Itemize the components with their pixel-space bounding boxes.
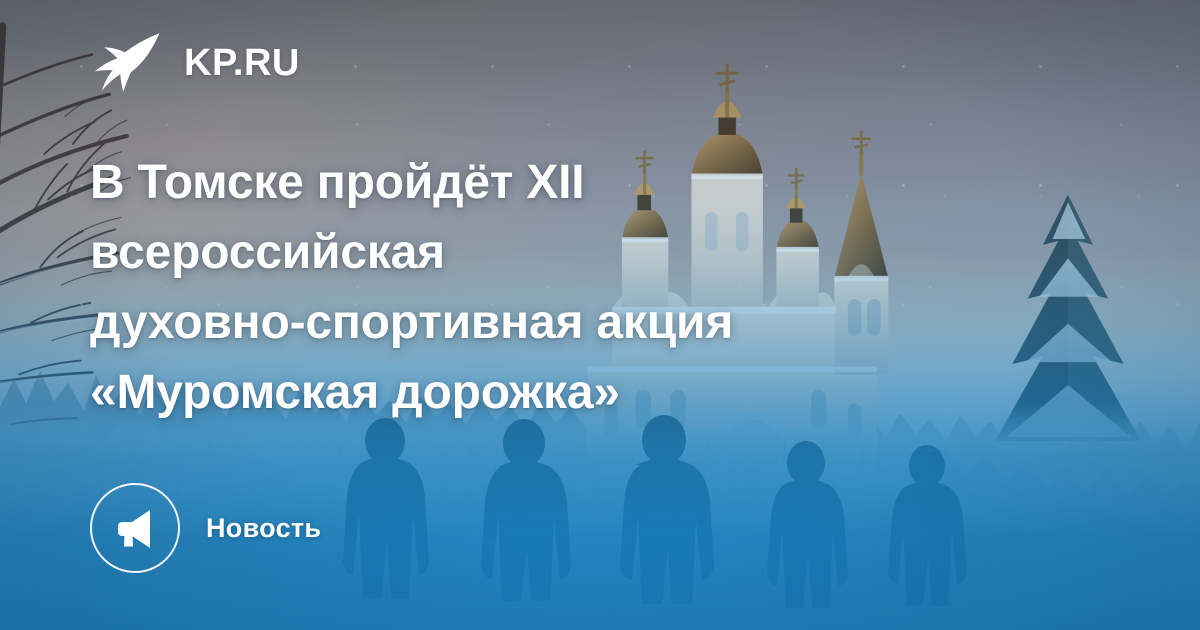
swallow-bird-icon <box>90 32 162 94</box>
megaphone-icon <box>112 505 158 551</box>
badge-label: Новость <box>206 515 321 542</box>
news-share-card: KP.RU В Томске пройдёт XII всероссийская… <box>0 0 1200 630</box>
headline-line-2: всероссийская <box>90 218 930 288</box>
badge-icon-circle <box>90 483 180 573</box>
headline-line-1: В Томске пройдёт XII <box>90 148 930 218</box>
category-badge[interactable]: Новость <box>90 483 321 573</box>
card-content: KP.RU В Томске пройдёт XII всероссийская… <box>0 0 1200 630</box>
brand-lockup[interactable]: KP.RU <box>90 32 300 94</box>
headline-line-3: духовно-спортивная акция <box>90 288 930 358</box>
brand-wordmark: KP.RU <box>184 44 300 82</box>
headline-line-4: «Муромская дорожка» <box>90 358 930 428</box>
page-title: В Томске пройдёт XII всероссийская духов… <box>90 148 930 428</box>
